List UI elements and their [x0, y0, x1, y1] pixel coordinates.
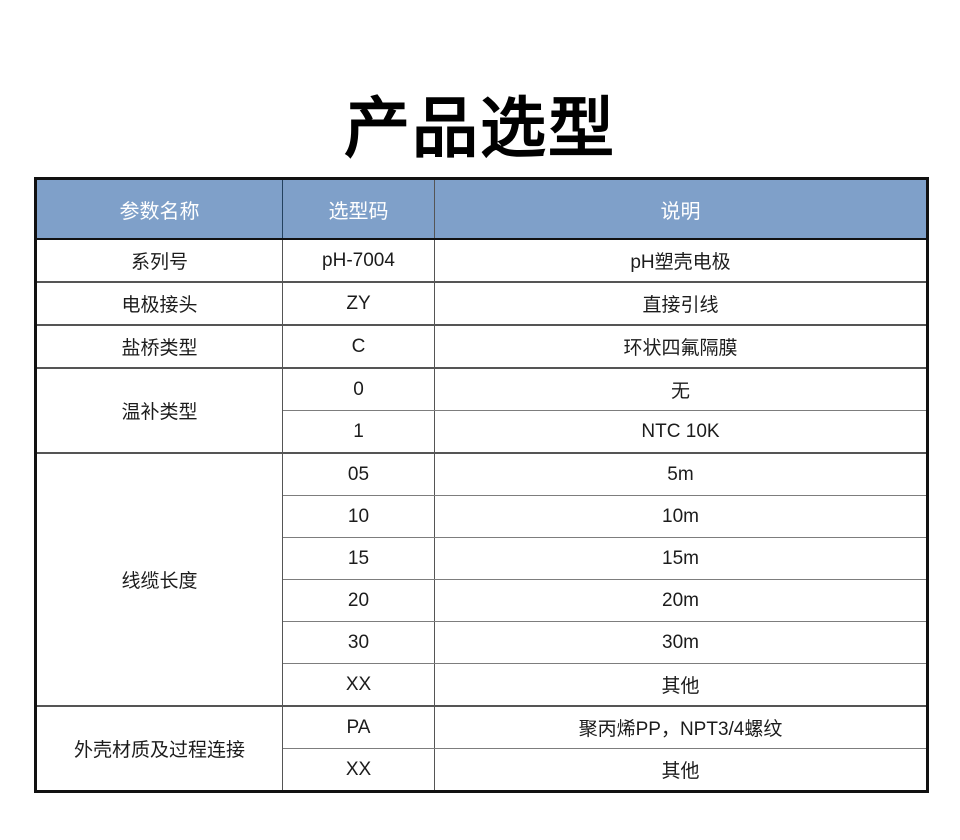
selection-code-cell: pH-7004: [283, 239, 435, 282]
parameter-name-cell: 电极接头: [36, 282, 283, 325]
selection-code-cell: ZY: [283, 282, 435, 325]
parameter-name-cell: 外壳材质及过程连接: [36, 706, 283, 792]
description-cell: 5m: [435, 453, 928, 496]
table-row: 外壳材质及过程连接PA聚丙烯PP，NPT3/4螺纹: [36, 706, 928, 749]
column-header-selection-code: 选型码: [283, 179, 435, 240]
description-cell: pH塑壳电极: [435, 239, 928, 282]
selection-code-cell: 05: [283, 453, 435, 496]
parameter-name-cell: 温补类型: [36, 368, 283, 453]
description-cell: 20m: [435, 580, 928, 622]
description-cell: 其他: [435, 664, 928, 707]
page-title: 产品选型: [0, 88, 960, 170]
selection-code-cell: C: [283, 325, 435, 368]
selection-code-cell: PA: [283, 706, 435, 749]
parameter-name-cell: 盐桥类型: [36, 325, 283, 368]
table-row: 系列号pH-7004pH塑壳电极: [36, 239, 928, 282]
description-cell: 15m: [435, 538, 928, 580]
description-cell: 其他: [435, 749, 928, 792]
product-selection-table: 参数名称 选型码 说明 系列号pH-7004pH塑壳电极电极接头ZY直接引线盐桥…: [34, 177, 929, 793]
column-header-description: 说明: [435, 179, 928, 240]
product-selection-page: 产品选型 参数名称 选型码 说明 系列号pH-7004pH塑壳电极电极接头ZY直…: [0, 0, 960, 840]
parameter-name-cell: 系列号: [36, 239, 283, 282]
table-header-row: 参数名称 选型码 说明: [36, 179, 928, 240]
selection-code-cell: 15: [283, 538, 435, 580]
table-row: 电极接头ZY直接引线: [36, 282, 928, 325]
description-cell: 无: [435, 368, 928, 411]
description-cell: 聚丙烯PP，NPT3/4螺纹: [435, 706, 928, 749]
description-cell: 直接引线: [435, 282, 928, 325]
table-header: 参数名称 选型码 说明: [36, 179, 928, 240]
table-row: 线缆长度055m: [36, 453, 928, 496]
table-body: 系列号pH-7004pH塑壳电极电极接头ZY直接引线盐桥类型C环状四氟隔膜温补类…: [36, 239, 928, 792]
selection-code-cell: 10: [283, 496, 435, 538]
selection-code-cell: XX: [283, 749, 435, 792]
description-cell: 10m: [435, 496, 928, 538]
table-row: 温补类型0无: [36, 368, 928, 411]
selection-code-cell: XX: [283, 664, 435, 707]
description-cell: NTC 10K: [435, 411, 928, 454]
table-row: 盐桥类型C环状四氟隔膜: [36, 325, 928, 368]
selection-code-cell: 30: [283, 622, 435, 664]
selection-code-cell: 20: [283, 580, 435, 622]
column-header-parameter-name: 参数名称: [36, 179, 283, 240]
selection-table-container: 参数名称 选型码 说明 系列号pH-7004pH塑壳电极电极接头ZY直接引线盐桥…: [34, 177, 926, 793]
description-cell: 环状四氟隔膜: [435, 325, 928, 368]
selection-code-cell: 1: [283, 411, 435, 454]
selection-code-cell: 0: [283, 368, 435, 411]
parameter-name-cell: 线缆长度: [36, 453, 283, 706]
description-cell: 30m: [435, 622, 928, 664]
